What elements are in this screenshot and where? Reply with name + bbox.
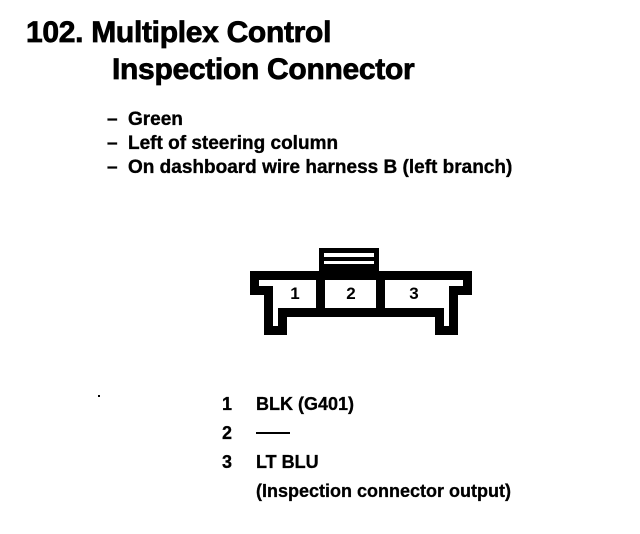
page-title-line-2: Inspection Connector <box>26 51 626 88</box>
dash-icon: – <box>107 156 128 180</box>
legend-pin-number: 3 <box>222 448 256 477</box>
legend-pin-number: 1 <box>222 390 256 419</box>
connector-body <box>250 248 472 335</box>
manual-page: 102. Multiplex Control Inspection Connec… <box>0 0 640 534</box>
pin-legend: 1 BLK (G401) 2 3 LT BLU (Inspection conn… <box>222 390 622 506</box>
list-item: – On dashboard wire harness B (left bran… <box>107 156 512 180</box>
list-item: – Left of steering column <box>107 132 512 156</box>
legend-wire-label: LT BLU <box>256 448 319 477</box>
cavity-label-3: 3 <box>409 284 418 303</box>
list-item: – Green <box>107 108 512 132</box>
legend-pin-number: 2 <box>222 419 256 448</box>
dash-icon: – <box>107 108 128 132</box>
page-title-line-1: 102. Multiplex Control <box>26 14 626 51</box>
page-title: 102. Multiplex Control Inspection Connec… <box>26 14 626 88</box>
connector-details-list: – Green – Left of steering column – On d… <box>107 108 512 180</box>
dash-icon: – <box>107 132 128 156</box>
legend-row: 3 LT BLU <box>222 448 622 477</box>
legend-row: 1 BLK (G401) <box>222 390 622 419</box>
legend-row: 2 <box>222 419 622 448</box>
cavity-label-1: 1 <box>290 284 299 303</box>
blank-wire-dash-icon <box>256 432 290 434</box>
scan-artifact-speck <box>98 395 100 397</box>
connector-diagram: 1 2 3 <box>248 246 474 342</box>
list-item-label: On dashboard wire harness B (left branch… <box>128 156 512 180</box>
cavity-label-2: 2 <box>346 284 355 303</box>
list-item-label: Left of steering column <box>128 132 338 156</box>
legend-wire-note: (Inspection connector output) <box>222 477 622 506</box>
list-item-label: Green <box>128 108 183 132</box>
legend-wire-label: BLK (G401) <box>256 390 354 419</box>
